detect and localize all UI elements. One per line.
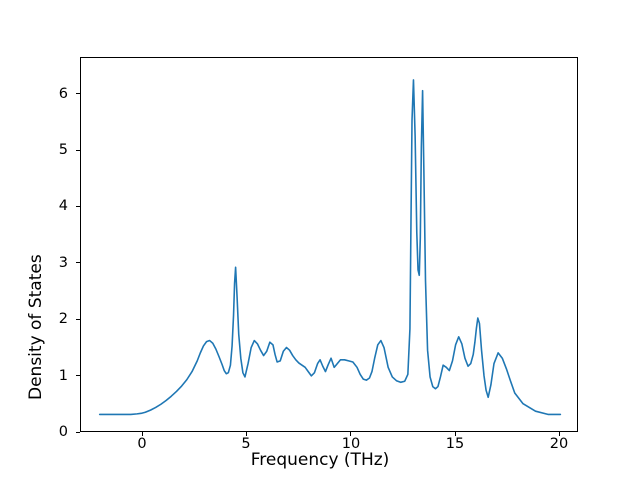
dos-curve-line xyxy=(100,80,561,414)
ytick-mark-0 xyxy=(76,432,80,433)
ytick-label-1: 1 xyxy=(48,368,68,384)
ytick-label-4: 4 xyxy=(48,198,68,214)
ytick-label-2: 2 xyxy=(48,311,68,327)
ytick-label-6: 6 xyxy=(48,86,68,102)
y-axis-label: Density of States xyxy=(26,254,46,400)
ytick-label-5: 5 xyxy=(48,142,68,158)
ytick-mark-6 xyxy=(76,93,80,94)
ytick-mark-2 xyxy=(76,319,80,320)
phonon-dos-figure: 0 5 10 15 20 0 1 2 3 4 5 6 Frequency (TH… xyxy=(0,0,640,480)
ytick-mark-3 xyxy=(76,262,80,263)
plot-area xyxy=(80,57,578,432)
ytick-label-0: 0 xyxy=(48,424,68,440)
ytick-mark-1 xyxy=(76,375,80,376)
ytick-mark-4 xyxy=(76,206,80,207)
x-axis-label: Frequency (THz) xyxy=(0,450,640,470)
dos-curve-svg xyxy=(81,58,577,431)
ytick-label-3: 3 xyxy=(48,255,68,271)
ytick-mark-5 xyxy=(76,150,80,151)
